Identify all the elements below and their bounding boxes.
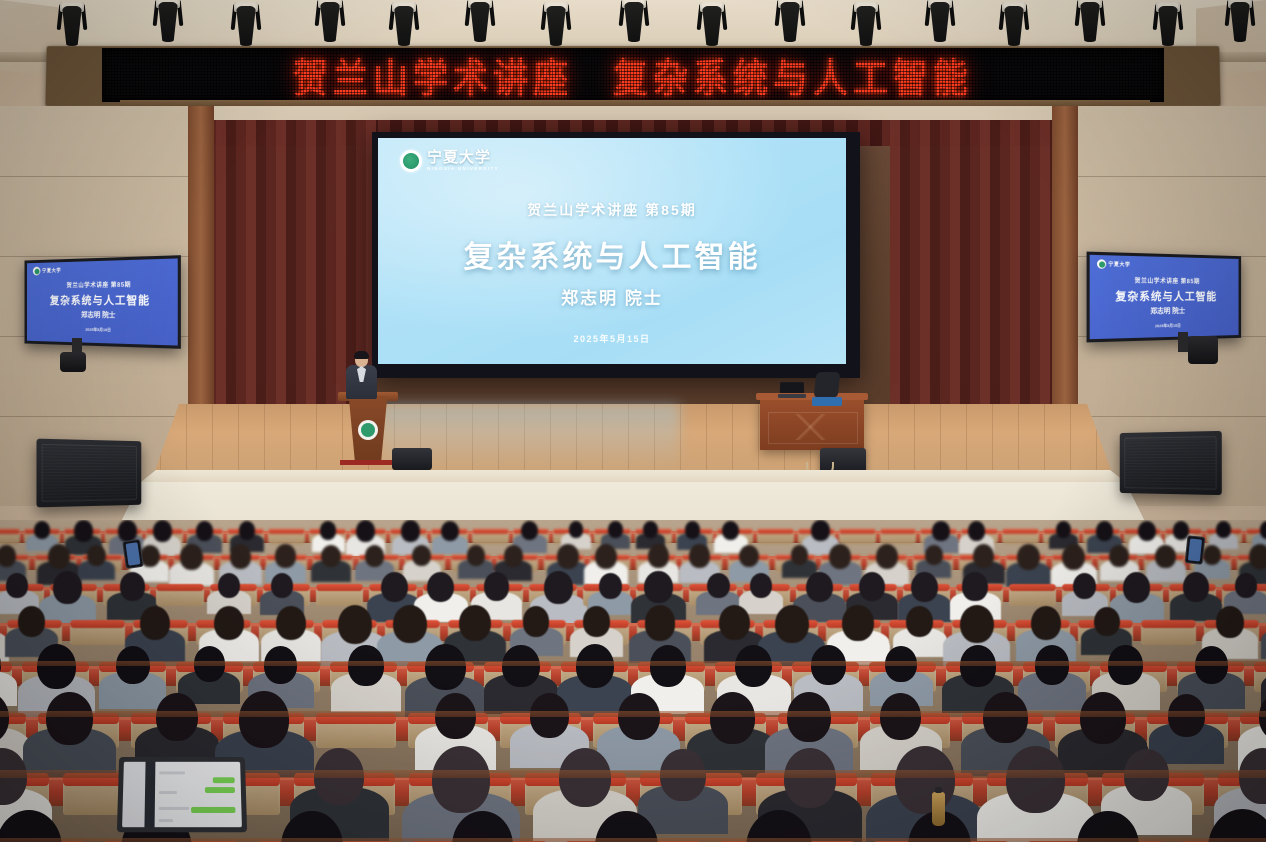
podium-base-trim <box>340 460 394 465</box>
audience-seat-top <box>839 529 876 534</box>
slide-logo-cn: 宁夏大学 <box>427 150 499 165</box>
audience-member-head <box>775 605 809 644</box>
audience-member-head <box>6 573 28 598</box>
attendee-phone <box>122 539 144 569</box>
video-camera-icon <box>1188 336 1218 364</box>
stage-spotlight-icon <box>1225 0 1255 42</box>
audience-member-head <box>648 544 668 567</box>
audience-member-head <box>87 545 106 567</box>
monitor-left-logo: 宁夏大学 <box>33 266 61 275</box>
audience-seat-top <box>1002 529 1039 534</box>
audience-member-head <box>1155 545 1175 568</box>
stage-spotlight-icon <box>153 0 183 42</box>
water-bottle <box>932 792 945 826</box>
audience-member-head <box>960 605 994 644</box>
audience-member-head <box>842 605 874 641</box>
monitor-right-logo: 宁夏大学 <box>1097 259 1130 269</box>
monitor-left-speaker: 郑志明 院士 <box>27 310 178 322</box>
audience-member-head <box>239 691 289 748</box>
attendee-laptop <box>117 757 247 832</box>
stage-spotlight-icon <box>389 2 419 46</box>
audience-member-head <box>1216 606 1244 638</box>
audience-member-head <box>645 605 676 640</box>
audience-member-head <box>569 521 584 538</box>
audience-member-head <box>689 544 709 567</box>
video-camera-icon <box>60 352 86 372</box>
audience-member-head <box>1096 521 1113 541</box>
audience-member-head <box>502 645 539 687</box>
audience-member-head <box>1260 521 1266 539</box>
slide-logo-en: NINGXIA UNIVERSITY <box>427 167 499 172</box>
monitor-right-logo-text: 宁夏大学 <box>1108 261 1130 269</box>
audience-member-head <box>432 746 491 813</box>
audience-member-head <box>1109 545 1129 567</box>
led-banner-text: 贺兰山学术讲座 复杂系统与人工智能 <box>293 48 973 102</box>
audience-member-head <box>739 545 759 568</box>
audience-member-head <box>876 544 898 569</box>
audience-seat-top <box>70 620 125 628</box>
audience-member-head <box>1203 545 1221 565</box>
audience-member-head <box>425 644 466 690</box>
lecture-speaker-person <box>344 352 378 398</box>
audience-member-head <box>583 606 610 637</box>
slide-logo: 宁夏大学 NINGXIA UNIVERSITY <box>400 150 499 172</box>
audience-member-head <box>118 520 137 541</box>
audience-member-head <box>1073 573 1096 599</box>
audience-member-head <box>230 544 252 569</box>
stage-spotlight-icon <box>619 0 649 42</box>
audience-member-head <box>1183 572 1209 602</box>
audience-member-head <box>381 572 408 603</box>
stage-spotlight-icon <box>697 2 727 46</box>
stage-monitor-speaker-left <box>392 448 432 470</box>
audience-seat-top <box>0 529 20 534</box>
seat-row-rail <box>0 711 1266 717</box>
university-emblem-icon <box>400 150 422 172</box>
seat-row-rail <box>0 838 1266 842</box>
seat-row-rail <box>0 661 1266 666</box>
audience-member-head <box>1017 544 1040 570</box>
audience-member-head <box>599 573 622 599</box>
attendee-laptop-screen <box>122 762 242 827</box>
audience-member-head <box>214 606 244 640</box>
audience-member-head <box>644 571 672 603</box>
audience-member-head <box>925 545 943 565</box>
stage-spotlight-icon <box>231 2 261 46</box>
audience-member-head <box>1080 692 1125 744</box>
stage-spotlight-icon <box>57 2 87 46</box>
audience-member-head <box>791 545 808 565</box>
monitor-left-title: 复杂系统与人工智能 <box>27 291 178 308</box>
audience-member-head <box>196 521 213 541</box>
monitor-right-mount <box>1178 332 1188 352</box>
audience-seat-top <box>316 584 363 591</box>
monitor-right-date: 2025年5月15日 <box>1090 322 1239 331</box>
audience-member-head <box>608 521 623 538</box>
stage-spotlight-icon <box>1075 0 1105 42</box>
audience-member-head <box>576 644 615 688</box>
audience-member-head <box>401 520 420 541</box>
projection-screen: 宁夏大学 NINGXIA UNIVERSITY 贺兰山学术讲座 第85期 复杂系… <box>378 138 846 364</box>
audience-member-head <box>53 571 82 604</box>
stage-spotlight-icon <box>465 0 495 42</box>
stage-spotlight-icon <box>999 2 1029 46</box>
audience-member-head <box>1056 521 1071 538</box>
monitor-left-series: 贺兰山学术讲座 第85期 <box>27 279 178 290</box>
stage-spotlight-icon <box>1153 2 1183 46</box>
audience-member-head <box>719 605 750 640</box>
stage-spotlight-icon <box>775 0 805 42</box>
audience-member-head <box>811 520 829 541</box>
audience-member-head <box>120 572 145 601</box>
audience-member-head <box>393 605 426 643</box>
audience-seat-top <box>472 529 509 534</box>
audience-member-head <box>544 571 573 604</box>
attendee-phone <box>1185 535 1206 565</box>
audience-member-head <box>338 605 372 644</box>
slide-title: 复杂系统与人工智能 <box>378 232 846 276</box>
audience-member-head <box>37 644 76 688</box>
podium-emblem-icon <box>358 420 378 440</box>
audience-member-head <box>750 573 772 598</box>
audience-member-head <box>1235 573 1257 598</box>
audience-member-head <box>710 692 755 744</box>
audience-member-head <box>153 520 172 542</box>
audience-member-head <box>356 520 375 542</box>
auditorium-photo: 贺兰山学术讲座 复杂系统与人工智能 宁夏大学 NINGXIA UNIVERSIT… <box>0 0 1266 842</box>
audience-member-head <box>685 521 700 538</box>
audience-member-head <box>18 606 45 637</box>
audience-member-head <box>595 544 617 569</box>
audience-member-head <box>365 545 384 567</box>
audience-member-head <box>1006 746 1065 813</box>
audience-member-head <box>932 521 949 541</box>
audience-member-head <box>504 545 523 567</box>
audience-member-head <box>1123 572 1150 603</box>
audience-member-head <box>239 521 256 540</box>
audience-member-head <box>968 521 986 541</box>
side-monitor-right: 宁夏大学 贺兰山学术讲座 第85期 复杂系统与人工智能 郑志明 院士 2025年… <box>1087 252 1242 343</box>
audience-member-head <box>1138 521 1156 541</box>
audience-member-head <box>962 572 988 601</box>
audience-member-head <box>276 606 306 640</box>
slide-date: 2025年5月15日 <box>378 332 846 345</box>
audience-member-head <box>271 573 293 599</box>
audience-member-head <box>1062 544 1085 570</box>
monitor-right-title: 复杂系统与人工智能 <box>1090 288 1239 305</box>
slide-series-label: 贺兰山学术讲座 第85期 <box>378 200 846 220</box>
monitor-right-speaker: 郑志明 院士 <box>1090 306 1239 317</box>
audience-member-head <box>911 572 938 602</box>
audience-member-head <box>521 521 538 540</box>
audience-member-head <box>557 544 578 569</box>
slide-speaker: 郑志明 院士 <box>378 284 846 309</box>
audience-member-head <box>46 692 93 745</box>
audience-member-head <box>0 545 16 567</box>
audience-member-head <box>806 572 833 603</box>
audience-member-head <box>441 521 459 542</box>
audience-seat-top <box>757 529 794 534</box>
audience-member-head <box>1031 606 1061 640</box>
audience-member-head <box>140 606 170 640</box>
stage-spotlight-icon <box>315 0 345 42</box>
audience-member-head <box>218 573 240 598</box>
stage-spotlight-icon <box>541 2 571 46</box>
audience-member-head <box>427 572 454 603</box>
audience-seat-top <box>268 529 305 534</box>
audience-member-head <box>459 605 491 641</box>
audience-member-head <box>906 606 933 637</box>
audience-member-head <box>983 692 1028 743</box>
monitor-left-date: 2025年5月15日 <box>27 326 178 335</box>
audience-member-head <box>320 521 336 540</box>
stage-spotlight-icon <box>851 2 881 46</box>
audience-seat-top <box>880 529 917 534</box>
university-emblem-icon <box>1097 259 1106 269</box>
audience-member-head <box>321 545 341 568</box>
audience-member-head <box>74 520 92 541</box>
audience-member-head <box>895 746 955 814</box>
audience-member-head <box>973 544 994 568</box>
audience-member-head <box>48 544 70 569</box>
audience-member-head <box>1216 521 1231 538</box>
audience-member-head <box>180 544 202 570</box>
university-emblem-icon <box>33 267 41 276</box>
audience-member-head <box>484 572 509 601</box>
loudspeaker-cabinet-left <box>36 439 141 508</box>
audience-member-head <box>707 573 730 599</box>
loudspeaker-cabinet-right <box>1120 431 1222 495</box>
audience-seat-top <box>156 584 203 591</box>
audience-seat-top <box>1009 584 1056 591</box>
audience-member-head <box>643 521 658 538</box>
stage-chair <box>812 372 842 412</box>
stage-spotlight-icon <box>925 0 955 42</box>
stage-laptop <box>778 384 806 398</box>
monitor-left-logo-text: 宁夏大学 <box>42 267 61 274</box>
audience-member-head <box>829 544 851 569</box>
audience-seat-top <box>1141 620 1196 628</box>
audience-member-head <box>523 606 549 636</box>
audience-member-head <box>735 645 772 688</box>
audience-member-head <box>467 545 485 566</box>
audience-member-head <box>859 572 885 601</box>
monitor-right-series: 贺兰山学术讲座 第85期 <box>1090 275 1239 286</box>
audience-member-head <box>787 692 831 742</box>
audience-member-head <box>1249 544 1266 569</box>
audience-member-head <box>1094 607 1120 636</box>
side-monitor-left: 宁夏大学 贺兰山学术讲座 第85期 复杂系统与人工智能 郑志明 院士 2025年… <box>25 255 181 349</box>
audience-member-head <box>275 544 295 567</box>
led-banner: 贺兰山学术讲座 复杂系统与人工智能 <box>102 48 1164 102</box>
